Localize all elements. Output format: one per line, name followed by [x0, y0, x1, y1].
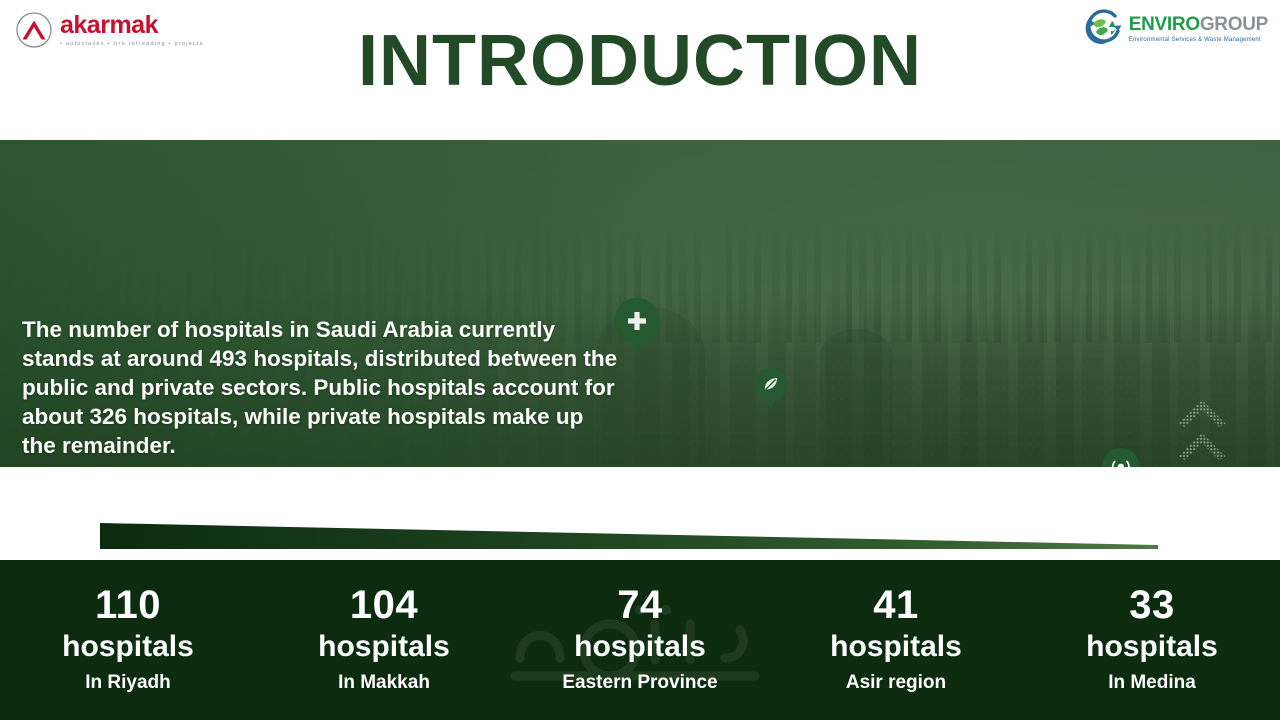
stat-region: In Makkah [256, 671, 512, 696]
envirogroup-tagline: Environmental Services & Waste Managemen… [1129, 37, 1268, 43]
dotted-chevron-up-icon [1176, 398, 1228, 428]
stat-item-asir: 41 hospitals Asir region [768, 584, 1024, 695]
banner-body-text: The number of hospitals in Saudi Arabia … [22, 315, 622, 467]
stat-item-riyadh: 110 hospitals In Riyadh [0, 584, 256, 695]
stat-unit: hospitals [512, 628, 768, 666]
paragraph-spacer [22, 460, 622, 467]
envirogroup-name-secondary: GROUP [1200, 14, 1268, 35]
stat-item-makkah: 104 hospitals In Makkah [256, 584, 512, 695]
envirogroup-wordmark: ENVIROGROUP Environmental Services & Was… [1129, 15, 1268, 43]
wedge-area [0, 467, 1280, 560]
map-pin-location-icon [1102, 448, 1140, 467]
stat-region: In Medina [1024, 671, 1280, 696]
stat-number: 33 [1024, 584, 1280, 626]
stat-unit: hospitals [256, 628, 512, 666]
stat-unit: hospitals [0, 628, 256, 666]
stat-number: 104 [256, 584, 512, 626]
stat-item-eastern-province: 74 hospitals Eastern Province [512, 584, 768, 695]
leaf-glyph [754, 368, 787, 401]
dotted-chevron-up-icon [1176, 431, 1228, 461]
target-glyph [1102, 448, 1140, 467]
stats-bar: 110 hospitals In Riyadh 104 hospitals In… [0, 560, 1280, 720]
stat-region: Asir region [768, 671, 1024, 696]
stat-region: Eastern Province [512, 671, 768, 696]
stat-number: 74 [512, 584, 768, 626]
stat-number: 41 [768, 584, 1024, 626]
intro-banner: The number of hospitals in Saudi Arabia … [0, 140, 1280, 467]
envirogroup-logo: ENVIROGROUP Environmental Services & Was… [1082, 8, 1268, 50]
stat-unit: hospitals [1024, 628, 1280, 666]
envirogroup-name: ENVIROGROUP [1129, 15, 1268, 34]
dotted-chevron-up-icon-group [1176, 398, 1228, 467]
decorative-wedge [100, 523, 1158, 553]
stats-grid: 110 hospitals In Riyadh 104 hospitals In… [0, 560, 1280, 720]
stat-number: 110 [0, 584, 256, 626]
map-pin-leaf-icon [754, 368, 787, 410]
slide-header: akarmak • autoclaves • tire retreading •… [0, 0, 1280, 140]
stat-unit: hospitals [768, 628, 1024, 666]
envirogroup-leaf-recycle-icon [1082, 9, 1124, 49]
stat-item-medina: 33 hospitals In Medina [1024, 584, 1280, 695]
envirogroup-name-primary: ENVIRO [1129, 14, 1200, 35]
banner-paragraph-1: The number of hospitals in Saudi Arabia … [22, 315, 622, 460]
stat-region: In Riyadh [0, 671, 256, 696]
